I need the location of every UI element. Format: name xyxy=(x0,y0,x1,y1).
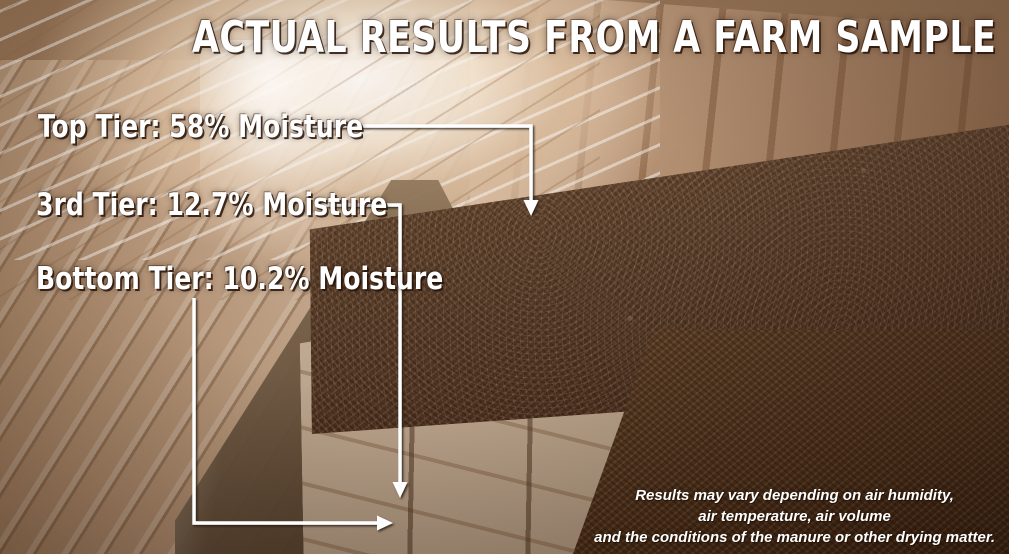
disclaimer-line-1: Results may vary depending on air humidi… xyxy=(594,485,995,506)
disclaimer-text: Results may vary depending on air humidi… xyxy=(594,485,995,548)
window-glare xyxy=(200,40,530,460)
farm-sample-infographic: ACTUAL RESULTS FROM A FARM SAMPLE Top Ti… xyxy=(0,0,1009,554)
disclaimer-line-3: and the conditions of the manure or othe… xyxy=(594,527,995,548)
callout-third-tier: 3rd Tier: 12.7% Moisture xyxy=(36,188,387,222)
disclaimer-line-2: air temperature, air volume xyxy=(594,506,995,527)
page-title: ACTUAL RESULTS FROM A FARM SAMPLE xyxy=(192,14,996,62)
callout-top-tier: Top Tier: 58% Moisture xyxy=(38,110,363,144)
callout-bottom-tier: Bottom Tier: 10.2% Moisture xyxy=(36,262,443,296)
